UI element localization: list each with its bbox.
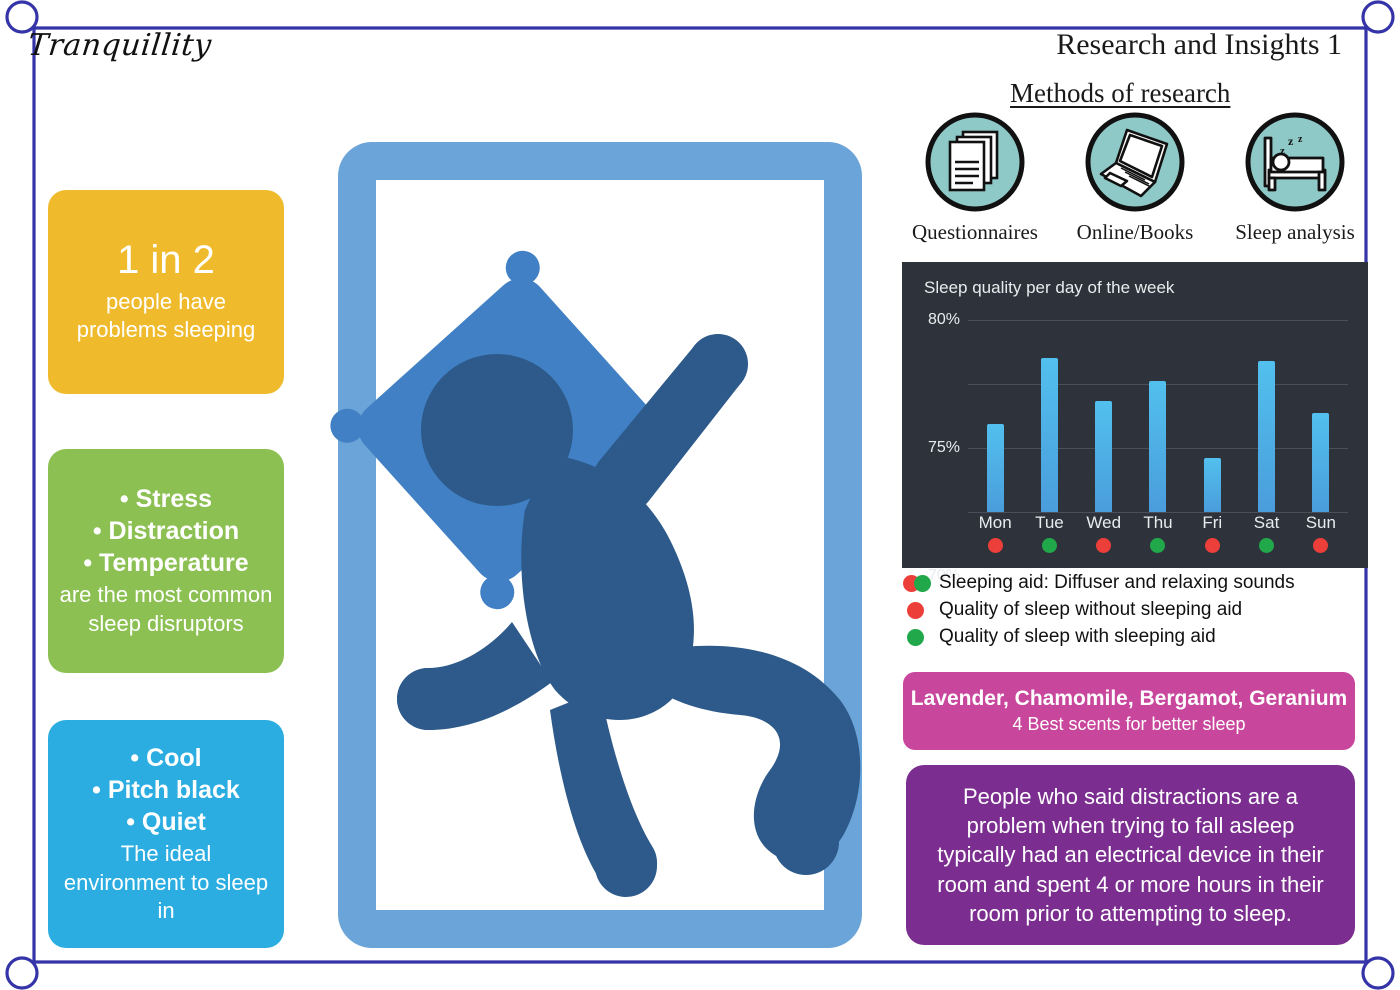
x-axis-tick-label: Tue bbox=[1022, 514, 1076, 533]
method-sleep-analysis: z z z Sleep analysis bbox=[1220, 110, 1370, 245]
y-axis-tick-label: 80% bbox=[928, 311, 960, 329]
legend-label: Sleeping aid: Diffuser and relaxing soun… bbox=[939, 572, 1295, 594]
stat-card-prevalence: 1 in 2 people have problems sleeping bbox=[48, 190, 284, 394]
legend-item: Quality of sleep with sleeping aid bbox=[903, 624, 1373, 650]
chart-bar bbox=[987, 424, 1004, 512]
x-axis-slot: Sun bbox=[1294, 514, 1348, 553]
chart-legend: Sleeping aid: Diffuser and relaxing soun… bbox=[903, 570, 1373, 651]
legend-marker-red bbox=[903, 600, 939, 620]
x-axis-tick-label: Wed bbox=[1077, 514, 1131, 533]
x-axis-tick-label: Thu bbox=[1131, 514, 1185, 533]
legend-item: Sleeping aid: Diffuser and relaxing soun… bbox=[903, 570, 1373, 596]
sleep-quality-chart: Sleep quality per day of the week 65%70%… bbox=[902, 262, 1368, 568]
bar-slot bbox=[1077, 320, 1131, 512]
chart-bar bbox=[1041, 358, 1058, 512]
best-scents-box: Lavender, Chamomile, Bergamot, Geranium … bbox=[903, 672, 1355, 750]
page-title: Research and Insights 1 bbox=[1056, 28, 1342, 62]
insight-box: People who said distractions are a probl… bbox=[906, 765, 1355, 945]
disruptor-description: are the most common sleep disruptors bbox=[58, 581, 274, 638]
chart-bar bbox=[1204, 458, 1221, 512]
svg-text:z: z bbox=[1298, 134, 1303, 145]
insight-text: People who said distractions are a probl… bbox=[928, 782, 1333, 928]
bar-slot bbox=[1131, 320, 1185, 512]
infographic-page: Tranquillity Research and Insights 1 1 i… bbox=[0, 0, 1400, 990]
chart-bar bbox=[1149, 381, 1166, 512]
scents-subtitle: 4 Best scents for better sleep bbox=[1012, 714, 1245, 735]
methods-heading: Methods of research bbox=[1010, 78, 1230, 109]
list-item: • Distraction bbox=[58, 515, 274, 547]
x-axis-tick-label: Fri bbox=[1185, 514, 1239, 533]
environment-description: The ideal environment to sleep in bbox=[58, 840, 274, 926]
list-item: • Pitch black bbox=[58, 774, 274, 806]
legend-item: Quality of sleep without sleeping aid bbox=[903, 597, 1373, 623]
bar-slot bbox=[1294, 320, 1348, 512]
x-axis-slot: Fri bbox=[1185, 514, 1239, 553]
documents-icon bbox=[923, 110, 1027, 214]
legend-marker-both bbox=[903, 573, 939, 593]
stat-card-environment: • Cool • Pitch black • Quiet The ideal e… bbox=[48, 720, 284, 948]
x-axis-tick-label: Sat bbox=[1240, 514, 1294, 533]
svg-text:z: z bbox=[1288, 134, 1294, 148]
x-axis-slot: Wed bbox=[1077, 514, 1131, 553]
sleeping-aid-marker-dot bbox=[1096, 538, 1111, 553]
methods-list: Questionnaires bbox=[900, 110, 1370, 245]
list-item: • Stress bbox=[58, 483, 274, 515]
chart-bars bbox=[968, 320, 1348, 512]
method-online-books: Online/Books bbox=[1060, 110, 1210, 245]
x-axis-slot: Thu bbox=[1131, 514, 1185, 553]
sleeping-aid-marker-dot bbox=[1150, 538, 1165, 553]
sleeping-aid-marker-dot bbox=[988, 538, 1003, 553]
legend-marker-green bbox=[903, 627, 939, 647]
scents-title: Lavender, Chamomile, Bergamot, Geranium bbox=[911, 687, 1347, 711]
sleeping-aid-marker-dot bbox=[1313, 538, 1328, 553]
chart-bar bbox=[1312, 413, 1329, 512]
chart-bar bbox=[1258, 361, 1275, 512]
legend-label: Quality of sleep without sleeping aid bbox=[939, 599, 1242, 621]
stat-headline: 1 in 2 bbox=[58, 239, 274, 281]
x-axis-slot: Tue bbox=[1022, 514, 1076, 553]
chart-plot-area: 65%70%75%80% bbox=[968, 320, 1348, 512]
method-label: Sleep analysis bbox=[1220, 220, 1370, 245]
bar-slot bbox=[1185, 320, 1239, 512]
bar-slot bbox=[1022, 320, 1076, 512]
x-axis-tick-label: Sun bbox=[1294, 514, 1348, 533]
method-questionnaires: Questionnaires bbox=[900, 110, 1050, 245]
brand-logo: Tranquillity bbox=[26, 28, 213, 63]
bar-slot bbox=[968, 320, 1022, 512]
chart-x-axis: MonTueWedThuFriSatSun bbox=[968, 514, 1348, 553]
sleeping-aid-marker-dot bbox=[1259, 538, 1274, 553]
environment-list: • Cool • Pitch black • Quiet bbox=[58, 742, 274, 838]
method-label: Online/Books bbox=[1060, 220, 1210, 245]
stat-card-disruptors: • Stress • Distraction • Temperature are… bbox=[48, 449, 284, 673]
chart-bar bbox=[1095, 401, 1112, 512]
bed-zzz-icon: z z z bbox=[1243, 110, 1347, 214]
person-sleeping-in-bed-illustration bbox=[300, 130, 900, 960]
y-axis-tick-label: 75% bbox=[928, 439, 960, 457]
x-axis-slot: Mon bbox=[968, 514, 1022, 553]
list-item: • Cool bbox=[58, 742, 274, 774]
legend-label: Quality of sleep with sleeping aid bbox=[939, 626, 1216, 648]
svg-text:z: z bbox=[1280, 145, 1285, 157]
list-item: • Quiet bbox=[58, 806, 274, 838]
stat-description: people have problems sleeping bbox=[58, 288, 274, 345]
sleeping-aid-marker-dot bbox=[1042, 538, 1057, 553]
disruptor-list: • Stress • Distraction • Temperature bbox=[58, 483, 274, 579]
sleeping-aid-marker-dot bbox=[1205, 538, 1220, 553]
method-label: Questionnaires bbox=[900, 220, 1050, 245]
x-axis-slot: Sat bbox=[1240, 514, 1294, 553]
chart-title: Sleep quality per day of the week bbox=[924, 278, 1174, 298]
laptop-icon bbox=[1083, 110, 1187, 214]
x-axis-tick-label: Mon bbox=[968, 514, 1022, 533]
bar-slot bbox=[1240, 320, 1294, 512]
list-item: • Temperature bbox=[58, 547, 274, 579]
